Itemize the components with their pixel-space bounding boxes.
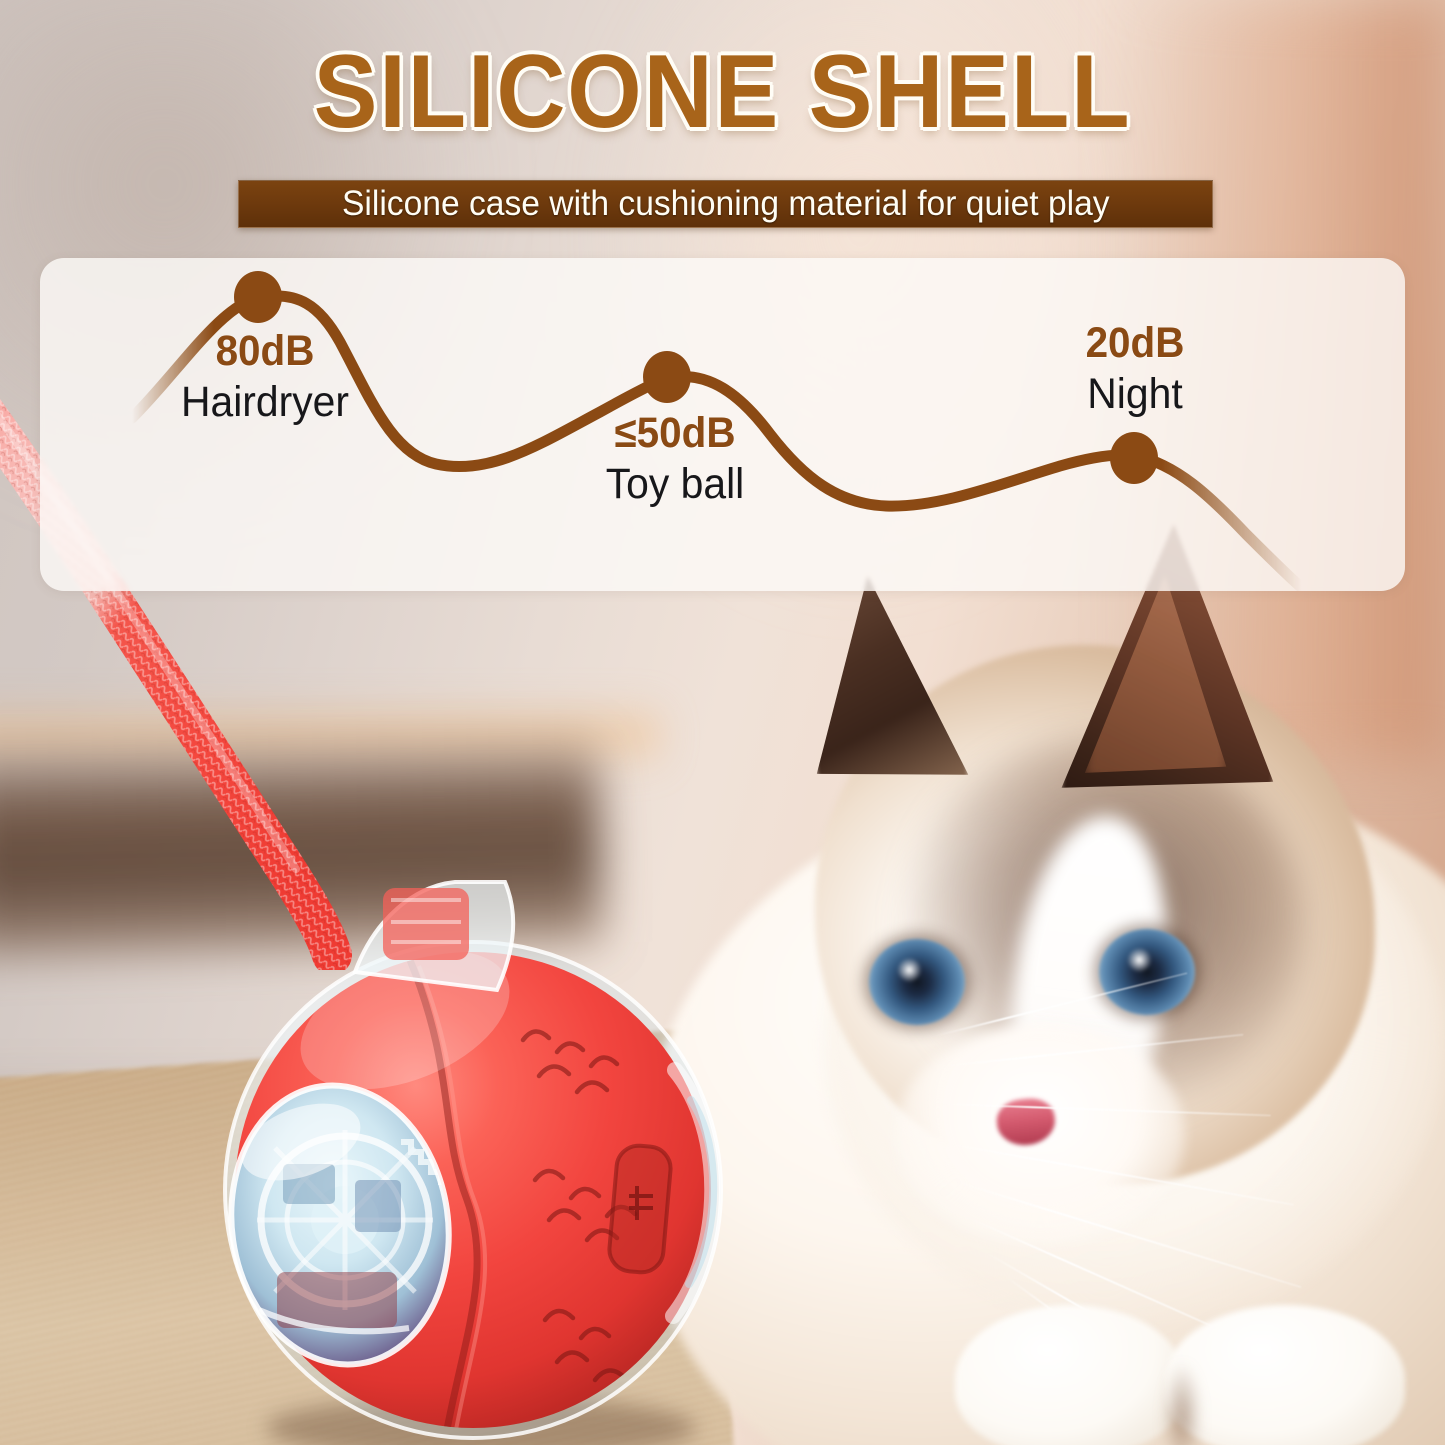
decibel-name-hairdryer: Hairdryer [175,381,356,424]
whisker [941,1103,1271,1117]
product-infographic: SILICONE SHELL Silicone case with cushio… [0,0,1445,1445]
cat-paw-left [955,1305,1185,1445]
decibel-value-toyball: ≤50dB [586,412,765,455]
decibel-value-night: 20dB [1046,322,1225,365]
subtitle-banner: Silicone case with cushioning material f… [238,180,1213,228]
cat-paw-gap [1164,1363,1200,1445]
cat-whiskers [935,1025,1395,1325]
decibel-value-hairdryer: 80dB [176,330,355,373]
cat-paw-right [1165,1305,1405,1445]
page-title: SILICONE SHELL [58,40,1387,144]
decibel-label-hairdryer: 80dB Hairdryer [170,330,360,424]
wave-marker-toyball [643,351,691,403]
cat-photo [645,505,1445,1445]
cat-toy-ball [205,880,745,1445]
decibel-label-toyball: ≤50dB Toy ball [580,412,770,506]
cat-eye-right [1099,929,1195,1015]
decibel-name-toyball: Toy ball [585,463,766,506]
decibel-label-night: 20dB Night [1040,322,1230,416]
subtitle-text: Silicone case with cushioning material f… [342,184,1110,224]
whisker [945,1034,1244,1067]
wave-marker-hairdryer [234,271,282,323]
wave-marker-night [1110,432,1158,484]
decibel-name-night: Night [1045,373,1226,416]
cat-eye-left [869,939,965,1025]
